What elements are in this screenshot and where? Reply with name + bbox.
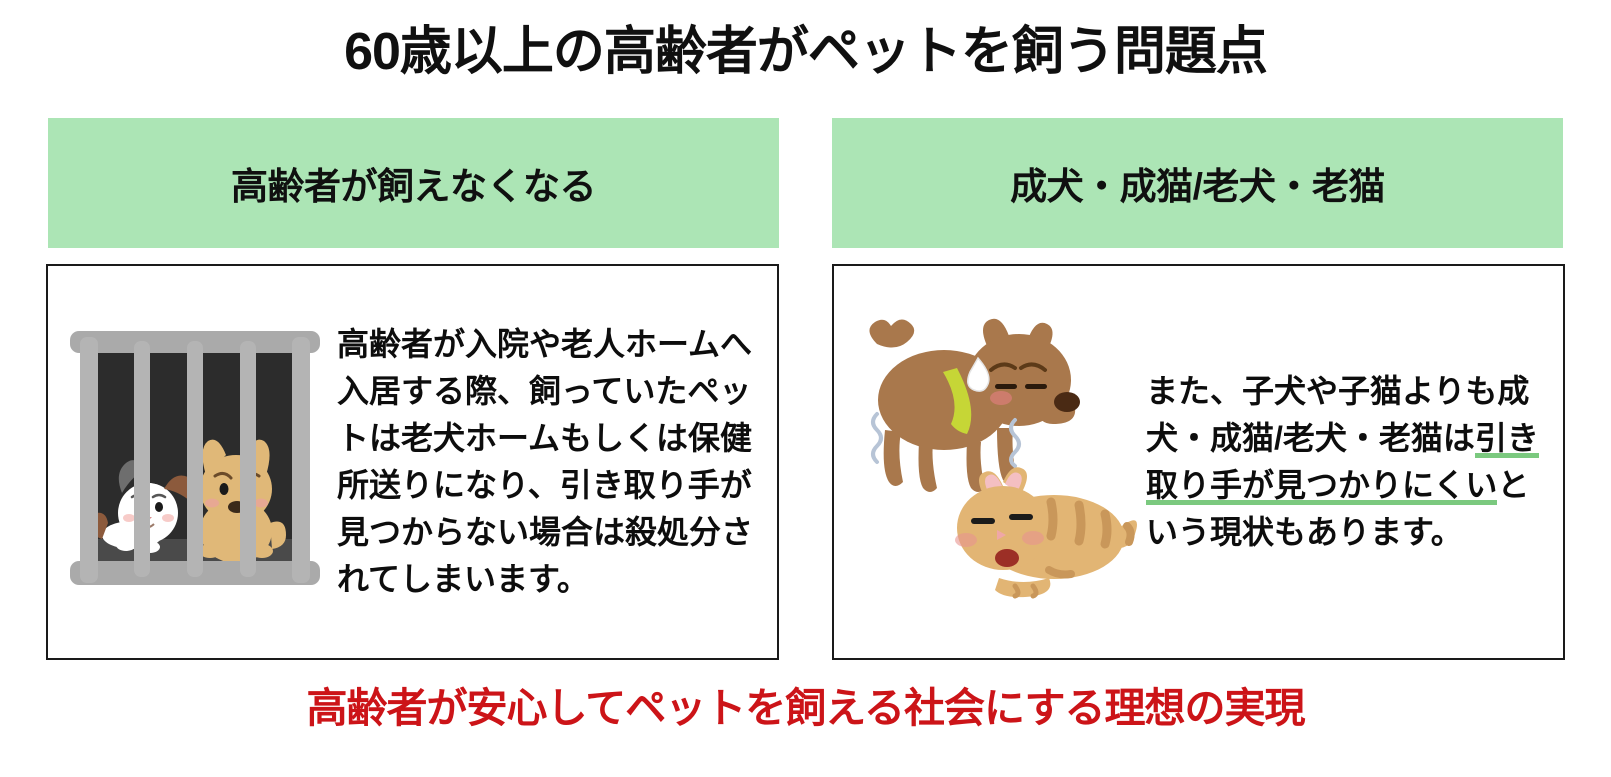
column-header-left-label: 高齢者が飼えなくなる [231,156,596,210]
page-title: 60歳以上の高齢者がペットを飼う問題点 [0,22,1611,82]
column-header-right: 成犬・成猫/老犬・老猫 [832,118,1563,248]
column-box-left: 高齢者が入院や老人ホームへ入居する際、飼っていたペットは老犬ホームもしくは保健所… [46,264,779,660]
body-segment: また、子犬や子猫よりも成犬・成猫/老犬・老猫は [1146,373,1529,456]
dog-and-cat-in-cage-illustration [52,312,337,612]
slide-canvas: 60歳以上の高齢者がペットを飼う問題点 高齢者が飼えなくなる 成犬・成猫/老犬・… [0,0,1611,777]
column-box-right: また、子犬や子猫よりも成犬・成猫/老犬・老猫は引き取り手が見つかりにくいという現… [832,264,1565,660]
old-dog-and-old-cat-illustration [834,297,1144,627]
old-dog-figure [869,319,1080,492]
body-segment: 高齢者が入院や老人ホームへ入居する際、飼っていたペットは老犬ホームもしくは保健所… [337,326,753,597]
old-pets-scene-svg [839,302,1139,622]
column-header-left: 高齢者が飼えなくなる [48,118,779,248]
footer-statement: 高齢者が安心してペットを飼える社会にする理想の実現 [0,679,1611,737]
column-body-text-left: 高齢者が入院や老人ホームへ入居する際、飼っていたペットは老犬ホームもしくは保健所… [337,321,777,603]
old-cat-figure [955,467,1137,597]
column-body-text-right: また、子犬や子猫よりも成犬・成猫/老犬・老猫は引き取り手が見つかりにくいという現… [1144,368,1563,556]
cage-scene-svg [60,317,330,607]
column-header-right-label: 成犬・成猫/老犬・老猫 [1010,156,1385,210]
